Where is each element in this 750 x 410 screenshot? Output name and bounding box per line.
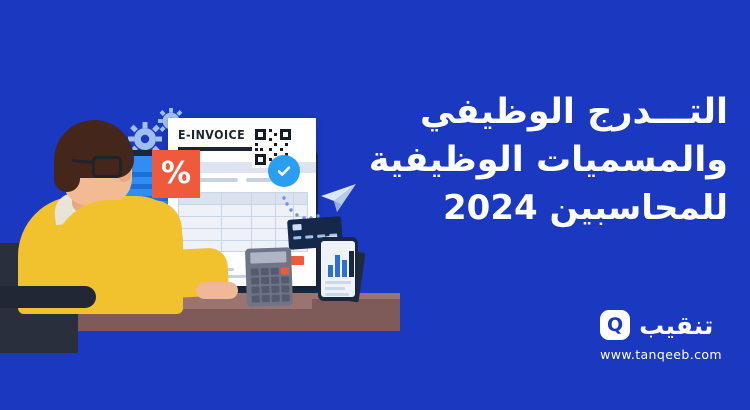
logo-mark-letter: Q: [607, 316, 623, 335]
page-title: التـــدرج الوظيفي والمسميات الوظيفية للم…: [298, 88, 728, 232]
discount-percent-badge: %: [152, 150, 200, 198]
verified-check-badge: [268, 155, 300, 187]
banner-root: E-INVOICE: [0, 0, 750, 410]
logo-wordmark: تنقيب: [639, 313, 713, 338]
percent-symbol: %: [161, 159, 191, 189]
calculator: [245, 247, 293, 307]
headline-line-1: التـــدرج الوظيفي: [298, 88, 728, 136]
calculator-display: [250, 251, 286, 263]
brand-logo[interactable]: تنقيب Q www.tanqeeb.com: [600, 310, 722, 362]
logo-row[interactable]: تنقيب Q: [600, 310, 722, 340]
chair-armrest: [0, 286, 96, 308]
person-sideburn: [54, 150, 80, 192]
headline-line-2: والمسميات الوظيفية: [298, 136, 728, 184]
person-hand-right: [196, 282, 238, 299]
headline-line-3: للمحاسبين 2024: [298, 185, 728, 232]
tanqeeb-q-icon: Q: [600, 310, 630, 340]
check-icon: [275, 162, 293, 180]
smartphone-screen: [321, 241, 355, 297]
smartphone: [318, 237, 358, 301]
glasses-icon: [92, 156, 122, 178]
invoice-title: E-INVOICE: [178, 128, 245, 142]
logo-url[interactable]: www.tanqeeb.com: [600, 347, 722, 362]
